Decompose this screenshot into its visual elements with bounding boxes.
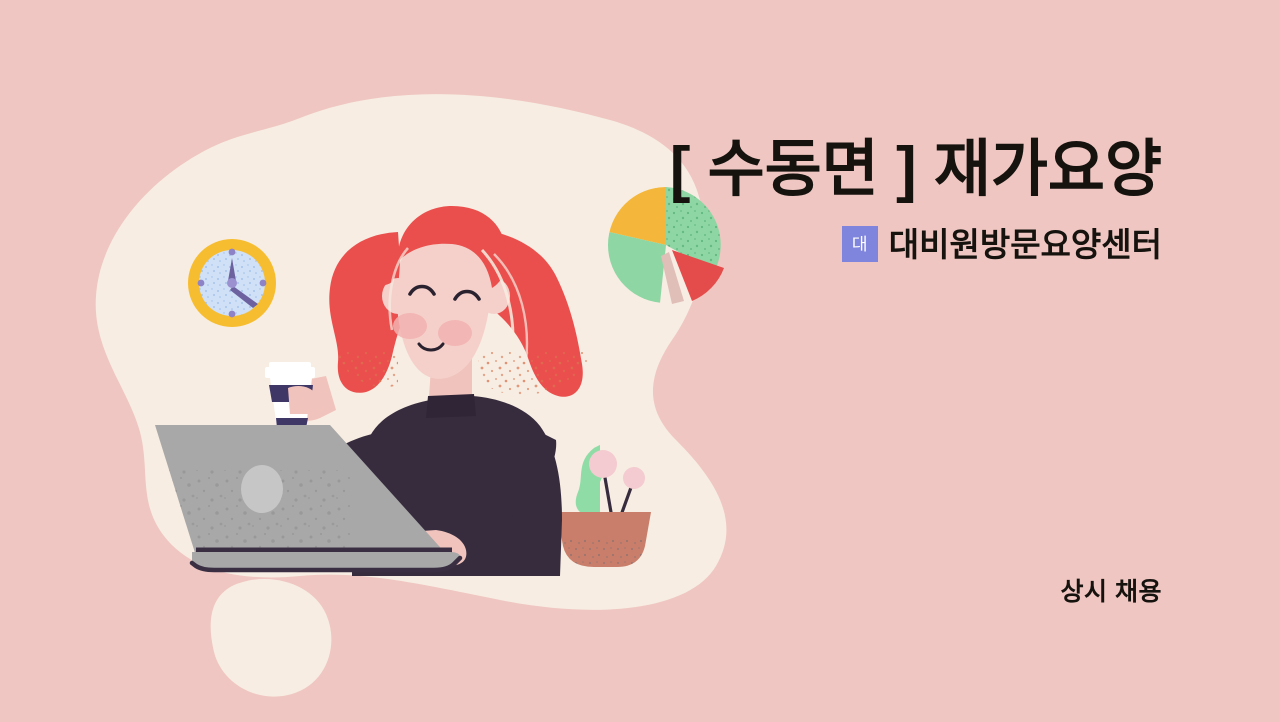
company-name: 대비원방문요양센터	[889, 228, 1162, 261]
company-row: 대 대비원방문요양센터	[522, 226, 1162, 262]
illustration-artwork	[0, 0, 1280, 722]
company-logo-badge: 대	[842, 226, 878, 262]
page-title: [ 수동면 ] 재가요양	[522, 138, 1162, 202]
hiring-type-label: 상시 채용	[1061, 572, 1162, 608]
job-posting-banner: [ 수동면 ] 재가요양 대 대비원방문요양센터 상시 채용	[0, 0, 1280, 722]
banner-text-block: [ 수동면 ] 재가요양 대 대비원방문요양센터	[522, 138, 1162, 262]
wall-clock-icon	[188, 239, 276, 327]
